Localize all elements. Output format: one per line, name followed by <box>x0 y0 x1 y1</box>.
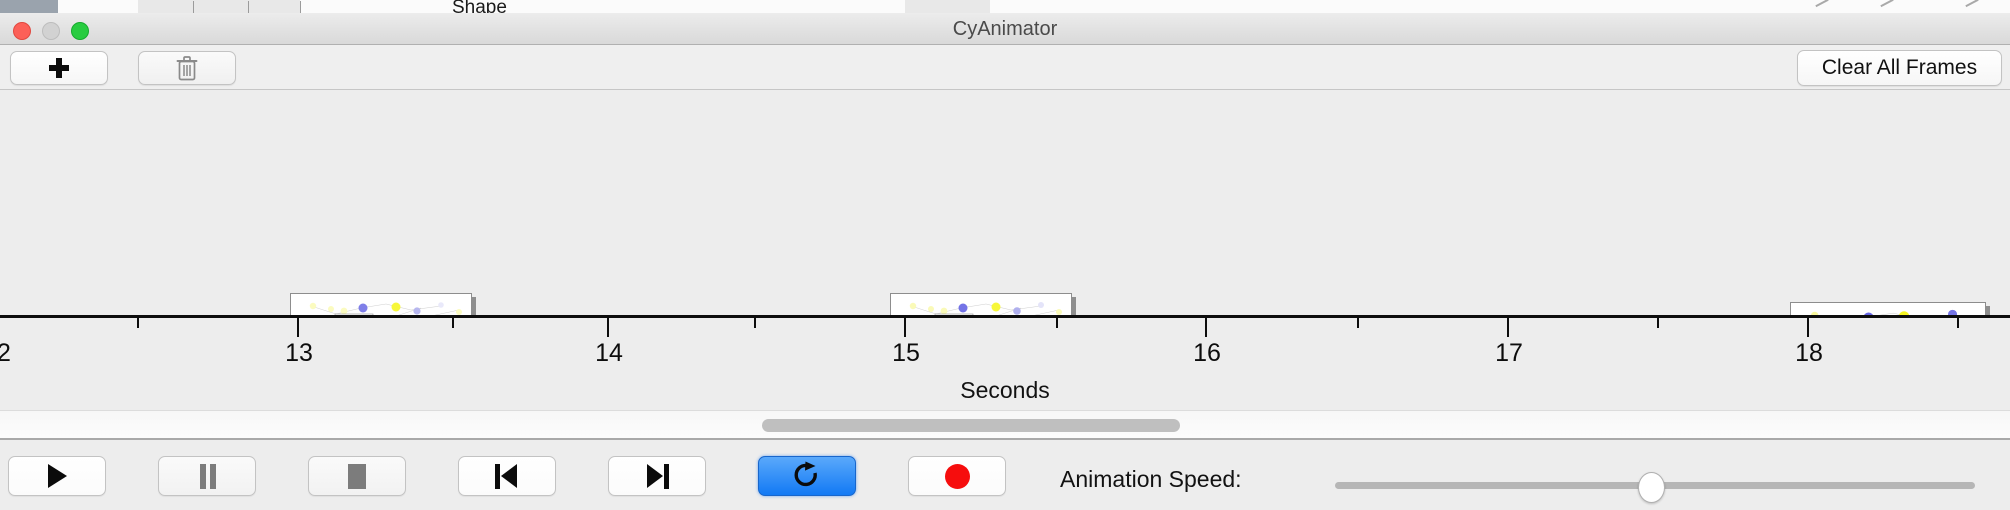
title-bar: CyAnimator <box>0 13 2010 45</box>
ruler-major-tick <box>904 318 906 337</box>
skip-to-end-button[interactable] <box>608 456 706 496</box>
record-button[interactable] <box>908 456 1006 496</box>
timeline-frame[interactable]: MCM1 <box>890 293 1072 315</box>
ruler-tick-label: 13 <box>285 339 313 368</box>
ruler-tick-label: 18 <box>1795 339 1823 368</box>
bg-tick <box>193 1 194 13</box>
timeline-frame[interactable]: MCM1 <box>1790 302 1986 315</box>
bg-segment <box>905 0 991 14</box>
ruler-axis-label: Seconds <box>0 377 2010 404</box>
ruler-minor-tick <box>137 318 139 328</box>
ruler-major-tick <box>1807 318 1809 337</box>
ruler-minor-tick <box>1657 318 1659 328</box>
frame-thumbnail-3: MCM1 <box>1791 303 1985 315</box>
animation-speed-slider-knob[interactable] <box>1638 472 1665 503</box>
ruler-tick-label: 17 <box>1495 339 1523 368</box>
ruler-minor-tick <box>1957 318 1959 328</box>
window-title: CyAnimator <box>0 13 2010 45</box>
ruler-minor-tick <box>1357 318 1359 328</box>
pause-button[interactable] <box>158 456 256 496</box>
skip-previous-icon <box>495 464 519 489</box>
bg-segment <box>300 0 411 14</box>
background-window-strip: Shape <box>0 0 2010 14</box>
add-frame-button[interactable] <box>10 51 108 85</box>
timeline-scrollbar-track[interactable] <box>0 410 2010 438</box>
frame-toolbar: Clear All Frames <box>0 45 2010 90</box>
ruler-major-tick <box>1205 318 1207 337</box>
ruler-baseline <box>0 315 2010 318</box>
ruler-minor-tick <box>754 318 756 328</box>
stop-icon <box>348 464 366 489</box>
ruler-tick-label: 14 <box>595 339 623 368</box>
bg-tick <box>300 1 301 13</box>
ruler-tick-label: 16 <box>1193 339 1221 368</box>
stop-button[interactable] <box>308 456 406 496</box>
bg-segment <box>0 0 59 14</box>
ruler-major-tick <box>1507 318 1509 337</box>
timeline-scrollbar-thumb[interactable] <box>762 419 1180 432</box>
background-window-text: Shape <box>452 0 507 14</box>
network-graph-preview: MCM1 <box>291 294 471 315</box>
plus-icon <box>48 57 70 79</box>
bg-segment <box>200 0 301 14</box>
ruler-minor-tick <box>1056 318 1058 328</box>
loop-button[interactable] <box>758 456 856 496</box>
clear-all-frames-button[interactable]: Clear All Frames <box>1797 50 2002 86</box>
network-graph-preview: MCM1 <box>891 294 1071 315</box>
playback-control-bar: Animation Speed: <box>0 438 2010 510</box>
cyanimator-window: Shape CyAnimator Clear All Frames <box>0 0 2010 510</box>
bg-segment <box>58 0 139 14</box>
ruler-major-tick <box>297 318 299 337</box>
delete-frame-button[interactable] <box>138 51 236 85</box>
ruler-tick-label: 2 <box>0 339 11 368</box>
animation-speed-label: Animation Speed: <box>1060 466 1242 493</box>
ruler-major-tick <box>607 318 609 337</box>
frame-thumbnail-2: MCM1 <box>891 294 1071 315</box>
clear-all-frames-label: Clear All Frames <box>1822 56 1977 80</box>
play-button[interactable] <box>8 456 106 496</box>
trash-icon <box>176 55 198 81</box>
timeline-panel[interactable]: MCM1 <box>0 90 2010 315</box>
frame-thumbnail-1: MCM1 <box>291 294 471 315</box>
pause-icon <box>199 464 216 489</box>
ruler-minor-tick <box>452 318 454 328</box>
bg-tick <box>248 1 249 13</box>
skip-to-start-button[interactable] <box>458 456 556 496</box>
record-icon <box>945 464 970 489</box>
ruler-tick-label: 15 <box>892 339 920 368</box>
bg-segment <box>138 0 201 14</box>
loop-icon <box>793 461 821 491</box>
skip-next-icon <box>645 464 669 489</box>
play-icon <box>48 464 67 488</box>
network-graph-preview: MCM1 <box>1791 303 1985 315</box>
timeline-ruler[interactable]: 2 13 14 15 16 17 18 Seconds <box>0 315 2010 410</box>
bg-segment <box>990 0 2010 14</box>
timeline-frame[interactable]: MCM1 <box>290 293 472 315</box>
